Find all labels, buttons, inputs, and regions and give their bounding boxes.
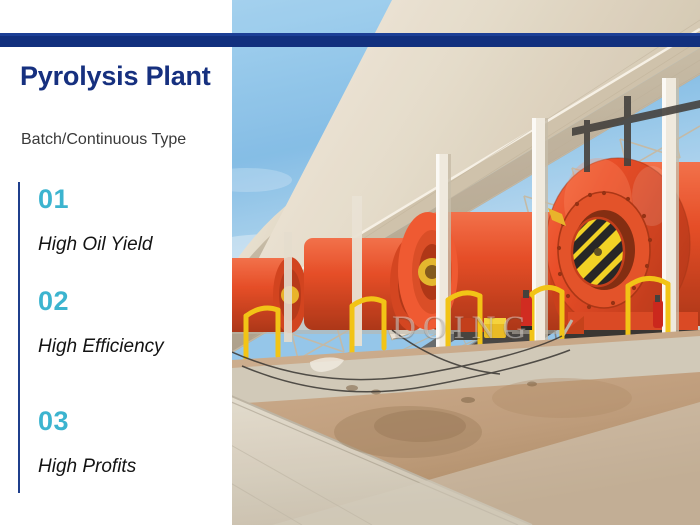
feature-label-1: High Oil Yield [38, 235, 228, 254]
feature-item-1: 01 High Oil Yield [38, 186, 228, 254]
feature-label-2: High Efficiency [38, 337, 228, 356]
plant-photo: DOING [232, 0, 700, 525]
slide-root: DOING Pyrolysis Plant Batch/Continuous T… [0, 0, 700, 525]
left-text-panel: Pyrolysis Plant Batch/Continuous Type 01… [0, 0, 232, 525]
header-rule [0, 33, 700, 47]
feature-number-1: 01 [38, 186, 228, 213]
feature-number-3: 03 [38, 408, 228, 435]
feature-item-2: 02 High Efficiency [38, 288, 228, 356]
feature-item-3: 03 High Profits [38, 408, 228, 476]
header-rule-highlight [0, 33, 700, 36]
feature-label-3: High Profits [38, 457, 228, 476]
feature-list: 01 High Oil Yield 02 High Efficiency 03 … [0, 0, 232, 525]
feature-number-2: 02 [38, 288, 228, 315]
